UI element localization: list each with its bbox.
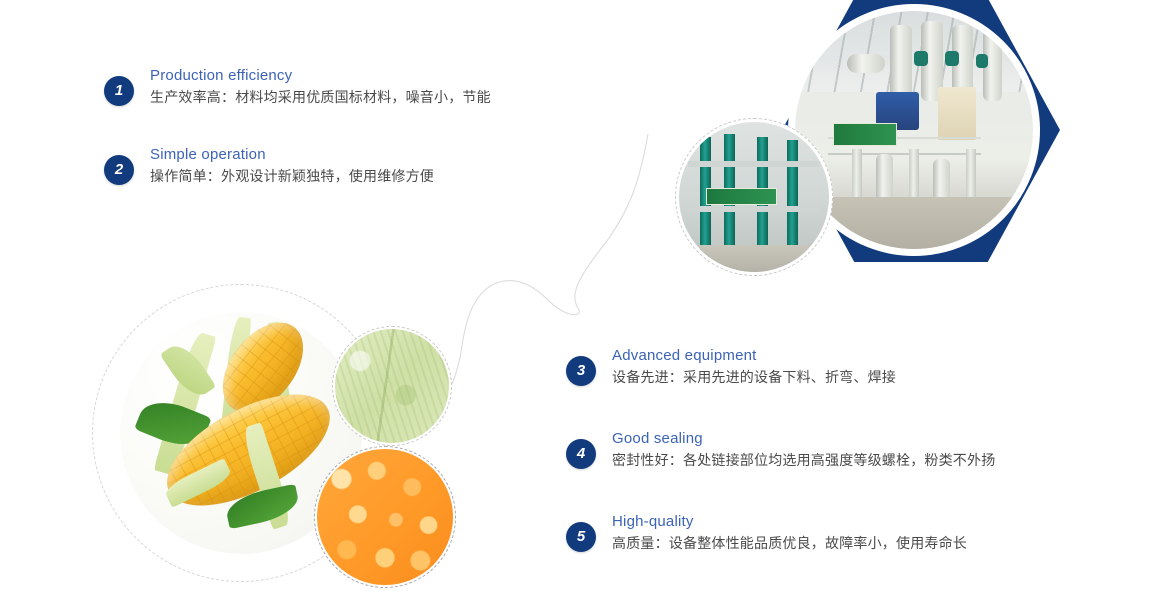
feature-number-badge: 3 — [566, 356, 596, 386]
equipment-photo-group — [660, 0, 1080, 288]
equipment-small-photo — [675, 118, 833, 276]
feature-number-badge: 5 — [566, 522, 596, 552]
feature-description: 生产效率高：材料均采用优质国标材料，噪音小，节能 — [150, 86, 624, 108]
feature-list-bottom: 3 Advanced equipment 设备先进：采用先进的设备下料、折弯、焊… — [566, 346, 1126, 591]
feature-title: High-quality — [612, 512, 1126, 532]
feature-description: 操作简单：外观设计新颖独特，使用维修方便 — [150, 165, 624, 187]
corn-photo-group — [92, 282, 512, 591]
feature-title: Advanced equipment — [612, 346, 1126, 366]
feature-number-badge: 4 — [566, 439, 596, 469]
feature-title: Good sealing — [612, 429, 1126, 449]
feature-item[interactable]: 1 Production efficiency 生产效率高：材料均采用优质国标材… — [104, 66, 624, 114]
feature-list-top: 1 Production efficiency 生产效率高：材料均采用优质国标材… — [104, 66, 624, 224]
feature-item[interactable]: 2 Simple operation 操作简单：外观设计新颖独特，使用维修方便 — [104, 145, 624, 193]
feature-description: 密封性好：各处链接部位均选用高强度等级螺栓，粉类不外扬 — [612, 449, 1126, 471]
corn-kernels-photo — [314, 446, 456, 588]
feature-title: Simple operation — [150, 145, 624, 165]
feature-item[interactable]: 4 Good sealing 密封性好：各处链接部位均选用高强度等级螺栓，粉类不… — [566, 429, 1126, 477]
corn-paste-photo — [332, 326, 452, 446]
feature-number-badge: 2 — [104, 155, 134, 185]
feature-item[interactable]: 5 High-quality 高质量：设备整体性能品质优良，故障率小，使用寿命长 — [566, 512, 1126, 560]
feature-item[interactable]: 3 Advanced equipment 设备先进：采用先进的设备下料、折弯、焊… — [566, 346, 1126, 394]
feature-title: Production efficiency — [150, 66, 624, 86]
feature-infographic: 1 Production efficiency 生产效率高：材料均采用优质国标材… — [0, 0, 1154, 591]
feature-description: 高质量：设备整体性能品质优良，故障率小，使用寿命长 — [612, 532, 1126, 554]
feature-number-badge: 1 — [104, 76, 134, 106]
feature-description: 设备先进：采用先进的设备下料、折弯、焊接 — [612, 366, 1126, 388]
